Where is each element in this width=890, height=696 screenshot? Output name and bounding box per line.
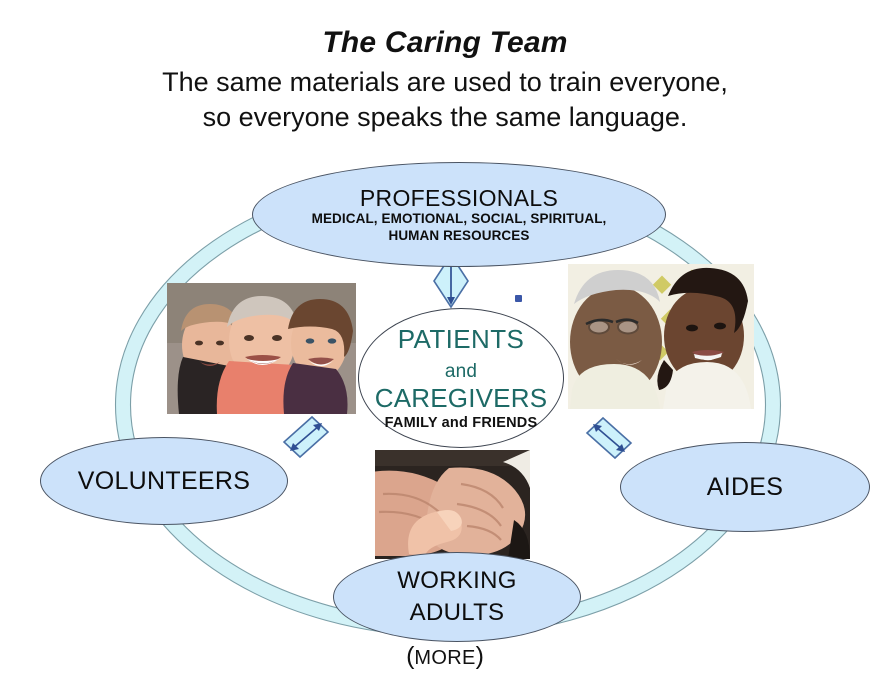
node-patients-and-caregivers[interactable]: PATIENTS and CAREGIVERS FAMILY and FRIEN… — [358, 308, 564, 448]
page-title: The Caring Team — [0, 26, 890, 60]
node-professionals-sub-line-2: HUMAN RESOURCES — [388, 228, 529, 245]
node-professionals-title: PROFESSIONALS — [360, 186, 558, 211]
more-word: MORE — [414, 647, 475, 669]
connector-diamond-right — [585, 416, 633, 460]
photo-clasped-hands — [375, 450, 530, 559]
more-paren-close: ) — [476, 642, 484, 670]
node-professionals-sub-line-1: MEDICAL, EMOTIONAL, SOCIAL, SPIRITUAL, — [312, 211, 607, 228]
decorative-dot — [515, 295, 522, 302]
node-volunteers-title: VOLUNTEERS — [78, 468, 250, 495]
center-label-caregivers: and CAREGIVERS — [359, 354, 563, 412]
photo-aide-and-client — [568, 264, 754, 409]
node-volunteers[interactable]: VOLUNTEERS — [40, 437, 288, 525]
node-working-adults-title-line-1: WORKING — [397, 565, 516, 597]
center-label-family-and-friends: FAMILY and FRIENDS — [385, 415, 538, 431]
page-subtitle-line-1: The same materials are used to train eve… — [0, 66, 890, 99]
slide-canvas: The Caring Team The same materials are u… — [0, 0, 890, 696]
connector-diamond-left — [282, 415, 330, 459]
more-label: (MORE) — [0, 642, 890, 671]
node-professionals[interactable]: PROFESSIONALS MEDICAL, EMOTIONAL, SOCIAL… — [252, 162, 666, 267]
node-aides-title: AIDES — [707, 474, 784, 501]
photo-family — [167, 283, 356, 414]
center-label-and: and — [445, 361, 477, 382]
center-label-caregivers-word: CAREGIVERS — [375, 383, 548, 413]
node-working-adults-title-line-2: ADULTS — [410, 597, 505, 629]
page-subtitle-line-2: so everyone speaks the same language. — [0, 101, 890, 134]
center-label-patients: PATIENTS — [398, 325, 524, 354]
node-aides[interactable]: AIDES — [620, 442, 870, 532]
node-working-adults[interactable]: WORKING ADULTS — [333, 552, 581, 642]
